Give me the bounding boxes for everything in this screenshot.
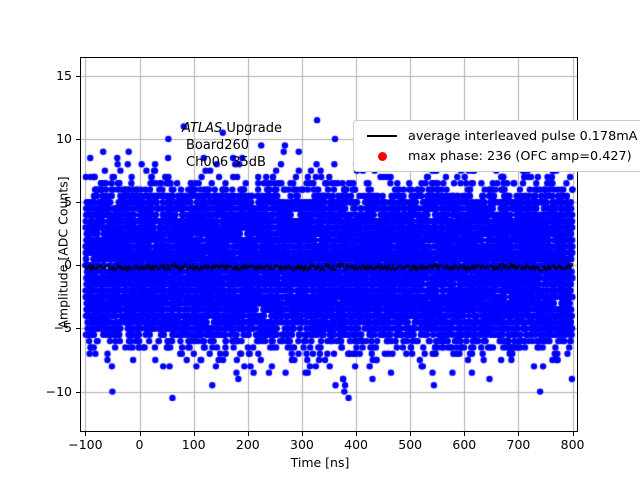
- y-tick-label: 10: [0, 131, 72, 146]
- x-tick-label: 100: [182, 437, 206, 452]
- annotation-line-board: Board260: [182, 137, 282, 154]
- x-tick-label: 800: [561, 437, 585, 452]
- annotation-line-atlas: ATLAS Upgrade: [182, 120, 282, 137]
- scatter-plot-canvas: [81, 58, 577, 431]
- x-tick-mark: [410, 432, 411, 436]
- x-tick-label: 200: [236, 437, 260, 452]
- x-tick-mark: [573, 432, 574, 436]
- x-tick-label: 600: [452, 437, 476, 452]
- y-tick-label: 0: [0, 257, 72, 272]
- legend-line-swatch: [361, 135, 403, 137]
- y-tick-label: −10: [0, 384, 72, 399]
- legend-entry-max-phase: max phase: 236 (OFC amp=0.427): [361, 146, 637, 166]
- y-tick-label: 5: [0, 194, 72, 209]
- x-tick-mark: [302, 432, 303, 436]
- x-axis-title: Time [ns]: [0, 455, 640, 470]
- x-tick-mark: [194, 432, 195, 436]
- y-tick-label: 15: [0, 68, 72, 83]
- legend-marker-swatch: [361, 152, 403, 161]
- x-tick-label: 700: [507, 437, 531, 452]
- atlas-annotation: ATLAS Upgrade Board260 Ch006 35dB: [182, 120, 282, 171]
- upgrade-label: Upgrade: [222, 121, 282, 136]
- figure-canvas: Amplitude [ADC Counts] −10−5051015−10001…: [0, 0, 640, 480]
- x-tick-mark: [356, 432, 357, 436]
- legend-label-average-pulse: average interleaved pulse 0.178mA: [403, 129, 637, 144]
- x-tick-label: 0: [136, 437, 144, 452]
- legend-label-max-phase: max phase: 236 (OFC amp=0.427): [403, 149, 632, 164]
- x-tick-label: 500: [398, 437, 422, 452]
- x-tick-label: 300: [290, 437, 314, 452]
- x-tick-mark: [464, 432, 465, 436]
- x-tick-label: −100: [68, 437, 102, 452]
- y-tick-label: −5: [0, 320, 72, 335]
- legend-entry-average-pulse: average interleaved pulse 0.178mA: [361, 126, 637, 146]
- annotation-line-channel: Ch006 35dB: [182, 154, 282, 171]
- x-tick-mark: [140, 432, 141, 436]
- x-tick-mark: [518, 432, 519, 436]
- x-tick-mark: [85, 432, 86, 436]
- legend-box: average interleaved pulse 0.178mA max ph…: [353, 120, 640, 172]
- atlas-label: ATLAS: [182, 121, 222, 136]
- plot-area: ATLAS Upgrade Board260 Ch006 35dB averag…: [80, 57, 578, 432]
- x-tick-mark: [248, 432, 249, 436]
- x-tick-label: 400: [344, 437, 368, 452]
